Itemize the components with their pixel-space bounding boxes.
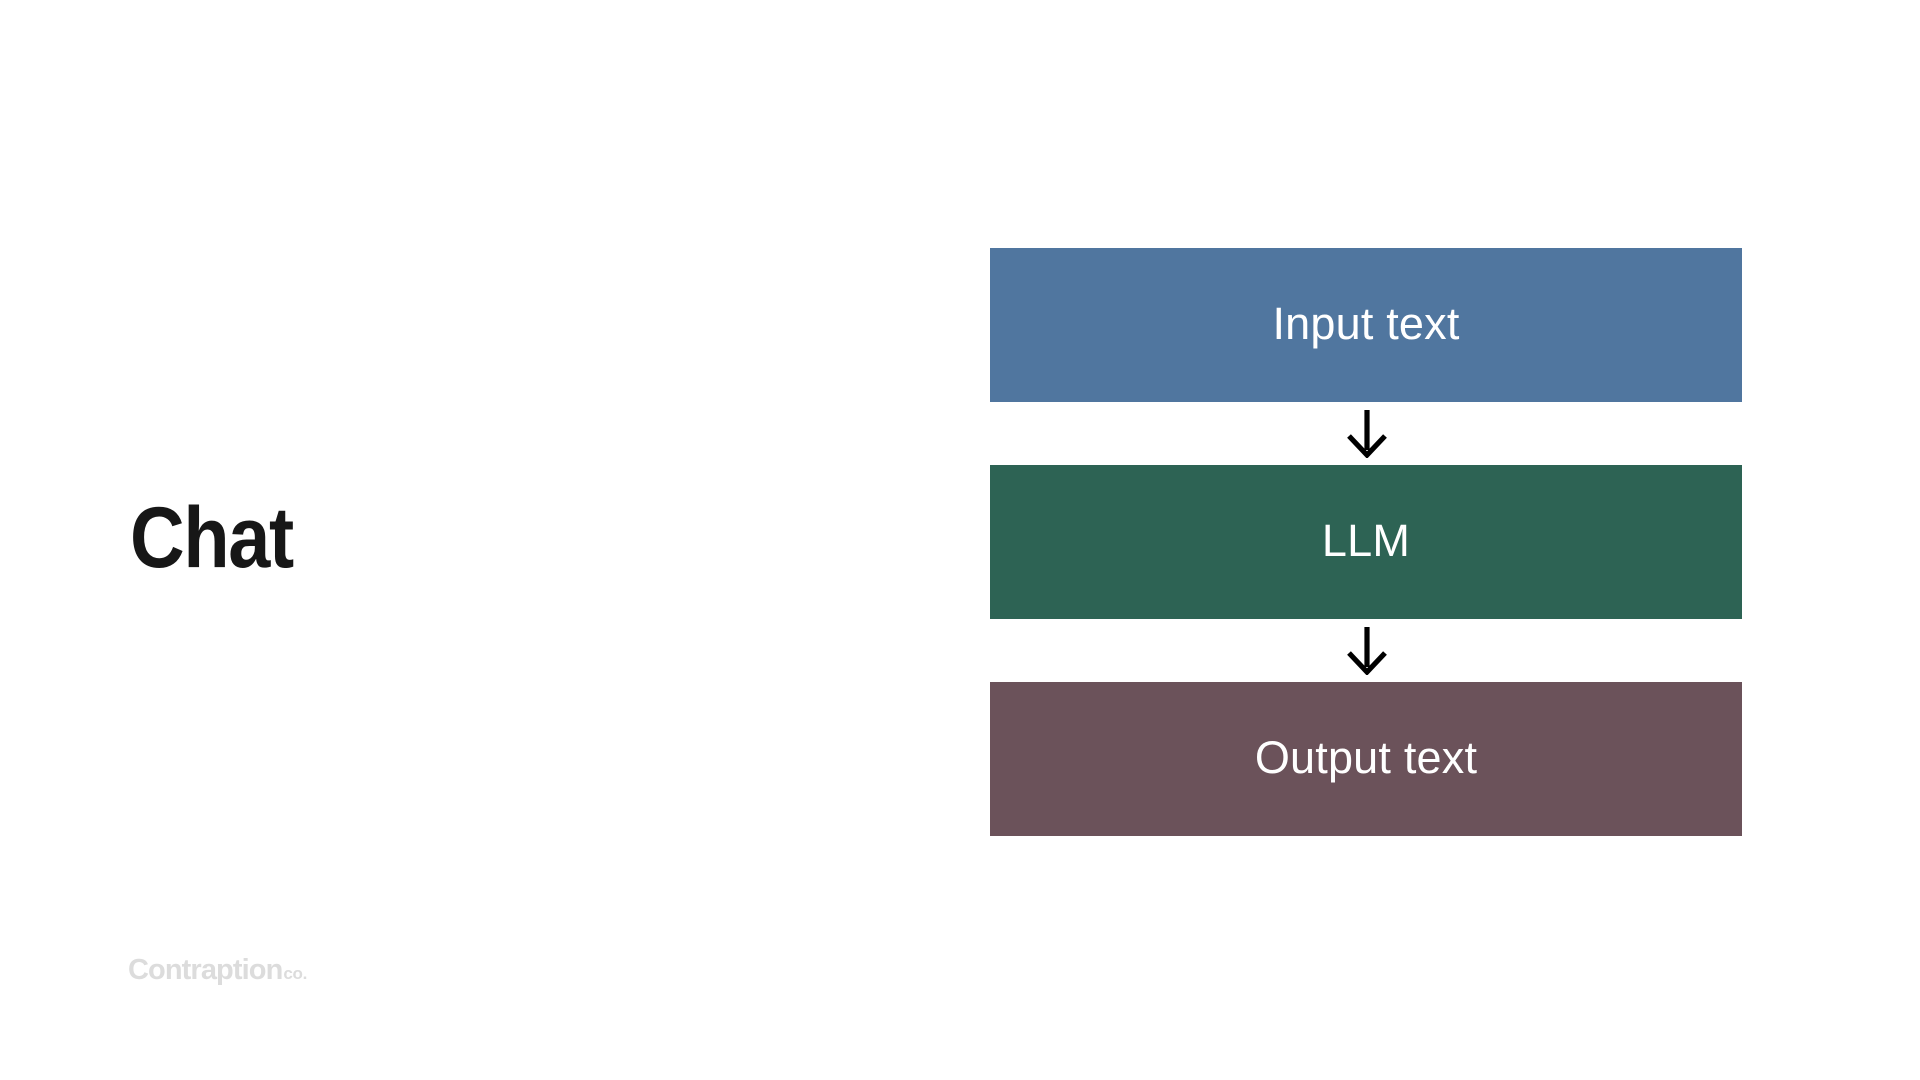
brand-suffix: co.: [283, 965, 307, 982]
page-title: Chat: [130, 495, 293, 581]
arrow-down-icon: [1343, 627, 1389, 675]
brand-name: Contraption: [128, 956, 282, 985]
flow-connector-llm-to-output: [990, 619, 1742, 682]
flow-diagram: Input text LLM Output text: [990, 248, 1742, 836]
slide-canvas: Chat Input text LLM Output text: [0, 0, 1920, 1080]
flow-node-input-text[interactable]: Input text: [990, 248, 1742, 402]
brand-logo: Contraption co.: [128, 956, 307, 985]
flow-node-label: LLM: [1322, 518, 1410, 563]
arrow-down-icon: [1343, 410, 1389, 458]
flow-node-label: Input text: [1272, 301, 1459, 346]
flow-node-llm[interactable]: LLM: [990, 465, 1742, 619]
flow-connector-input-to-llm: [990, 402, 1742, 465]
flow-node-output-text[interactable]: Output text: [990, 682, 1742, 836]
flow-node-label: Output text: [1255, 735, 1477, 780]
